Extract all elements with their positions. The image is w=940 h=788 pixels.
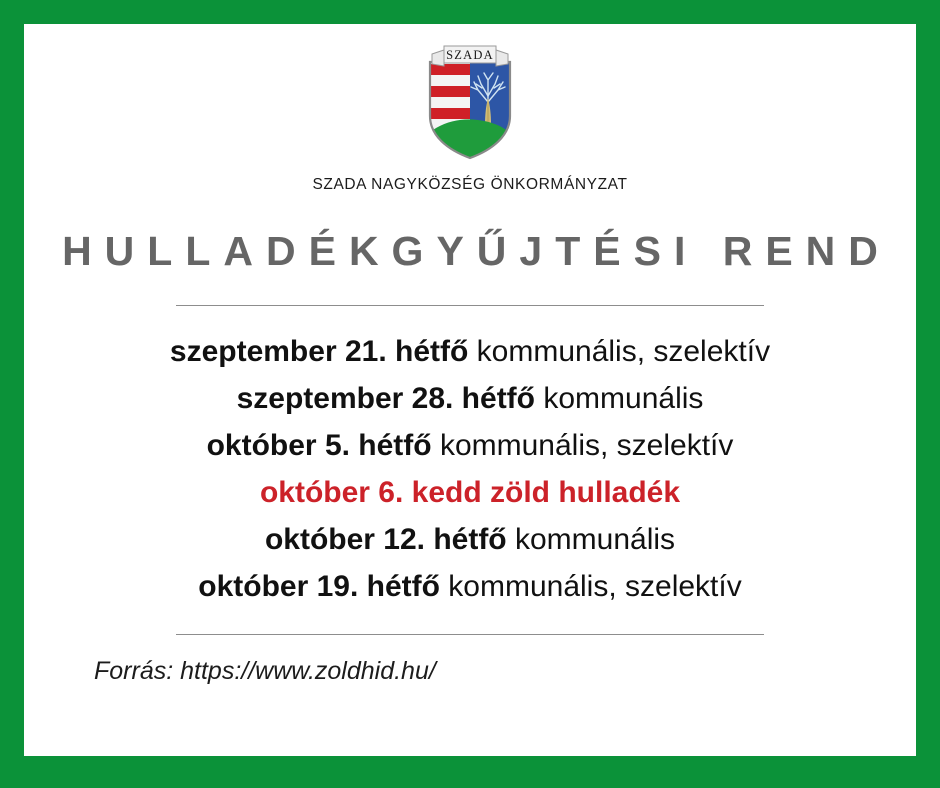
svg-text:SZADA: SZADA [446, 48, 494, 62]
poster: SZADA SZADA NAGYKÖZSÉG ÖNKORMÁNYZAT HULL… [0, 0, 940, 788]
schedule-date: október 6. kedd [260, 476, 482, 509]
source-note: Forrás: https://www.zoldhid.hu/ [94, 657, 436, 686]
schedule-row: október 5. hétfő kommunális, szelektív [207, 422, 734, 469]
schedule-date: szeptember 21. hétfő [170, 335, 468, 368]
schedule-kind: kommunális, szelektív [448, 570, 741, 603]
schedule-date: október 5. hétfő [207, 429, 432, 462]
divider-bottom [176, 634, 764, 635]
schedule-kind: zöld hulladék [490, 476, 680, 509]
poster-sheet: SZADA SZADA NAGYKÖZSÉG ÖNKORMÁNYZAT HULL… [24, 24, 916, 756]
schedule-date: szeptember 28. hétfő [237, 382, 535, 415]
schedule-kind: kommunális, szelektív [440, 429, 733, 462]
schedule-row: szeptember 28. hétfő kommunális [237, 375, 704, 422]
schedule-date: október 12. hétfő [265, 523, 507, 556]
schedule-row: október 12. hétfő kommunális [265, 516, 675, 563]
organization-name: SZADA NAGYKÖZSÉG ÖNKORMÁNYZAT [312, 176, 627, 194]
schedule-row: október 19. hétfő kommunális, szelektív [198, 563, 741, 610]
crest-banner: SZADA [432, 46, 508, 66]
schedule-row-highlighted: október 6. kedd zöld hulladék [260, 469, 680, 516]
schedule-row: szeptember 21. hétfő kommunális, szelekt… [170, 328, 770, 375]
waste-collection-schedule: szeptember 21. hétfő kommunális, szelekt… [24, 328, 916, 610]
divider-top [176, 305, 764, 306]
page-title: HULLADÉKGYŰJTÉSI REND [49, 230, 891, 273]
szada-coat-of-arms-icon: SZADA [418, 40, 522, 162]
schedule-kind: kommunális [543, 382, 703, 415]
schedule-date: október 19. hétfő [198, 570, 440, 603]
schedule-kind: kommunális, szelektív [477, 335, 770, 368]
schedule-kind: kommunális [515, 523, 675, 556]
